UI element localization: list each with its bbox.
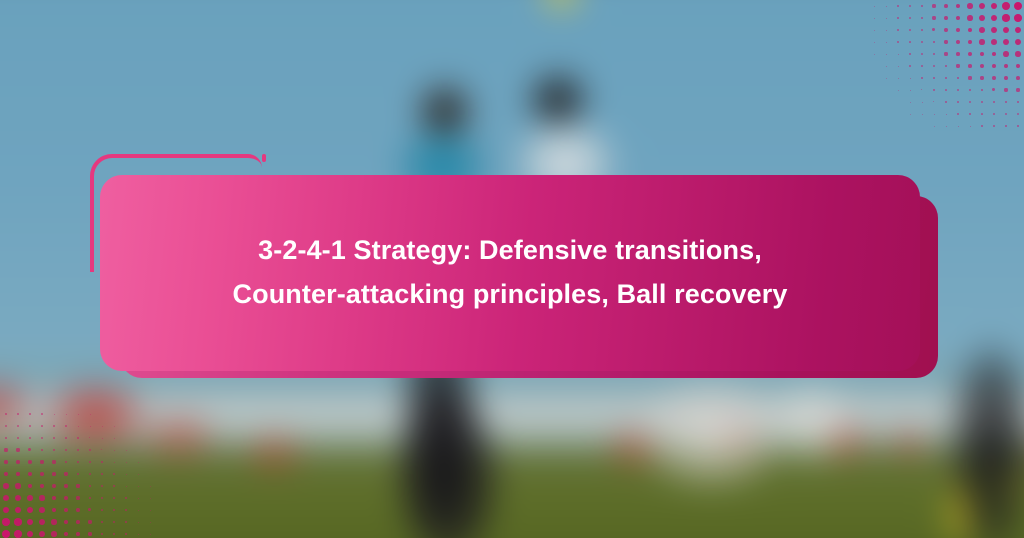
card-title: 3-2-4-1 Strategy: Defensive transitions,… (233, 229, 788, 316)
banner-canvas: 3-2-4-1 Strategy: Defensive transitions,… (0, 0, 1024, 538)
card-title-line-2: Counter-attacking principles, Ball recov… (233, 273, 788, 317)
title-card: 3-2-4-1 Strategy: Defensive transitions,… (100, 175, 920, 371)
card-title-line-1: 3-2-4-1 Strategy: Defensive transitions, (233, 229, 788, 273)
